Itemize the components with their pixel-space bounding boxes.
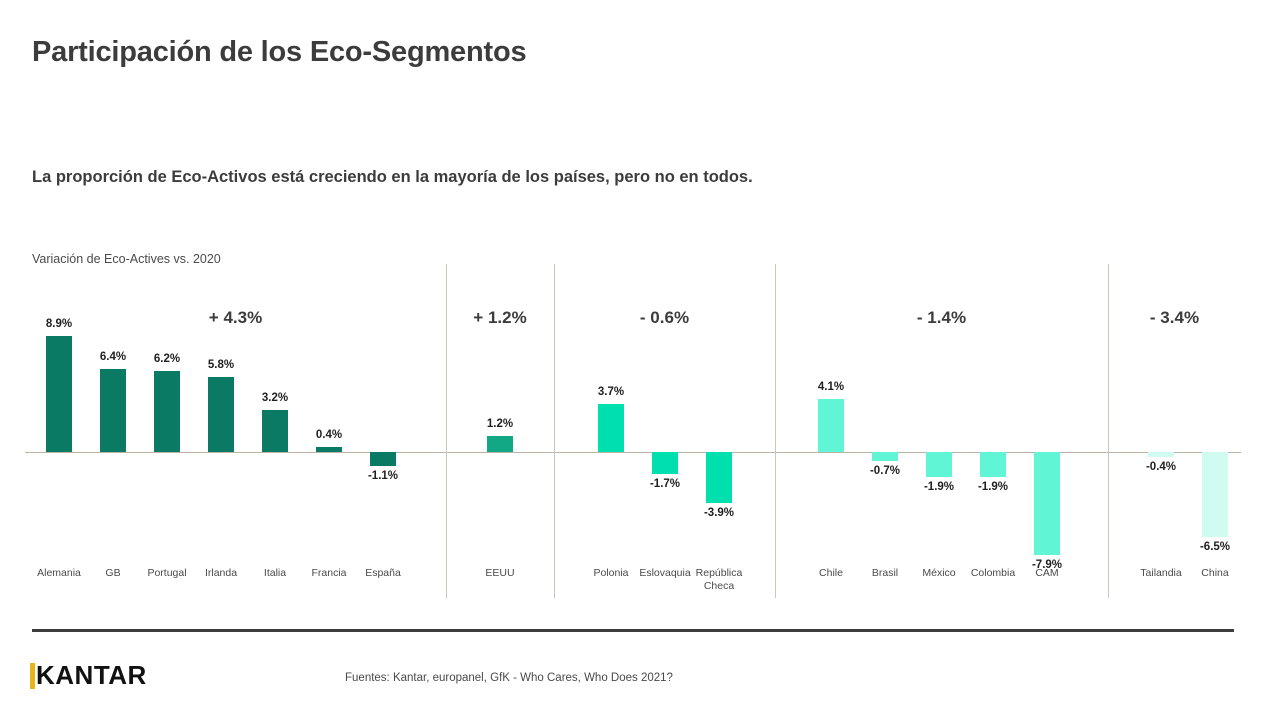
bar-chart: + 4.3%8.9%Alemania6.4%GB6.2%Portugal5.8%… xyxy=(0,264,1266,598)
footer-divider xyxy=(32,629,1234,632)
bar-value-label: 8.9% xyxy=(46,318,72,330)
bar[interactable] xyxy=(370,452,396,466)
subtitle: La proporción de Eco-Activos está crecie… xyxy=(32,168,753,187)
bar[interactable] xyxy=(1148,452,1174,457)
kantar-logo: KANTAR xyxy=(30,660,147,691)
bar-category-label: China xyxy=(1201,567,1228,580)
bar[interactable] xyxy=(100,369,126,452)
bar-value-label: 4.1% xyxy=(818,381,844,393)
page-title: Participación de los Eco-Segmentos xyxy=(32,36,526,69)
bar-category-label: Italia xyxy=(264,567,286,580)
bar[interactable] xyxy=(706,452,732,503)
group-europe: + 4.3%8.9%Alemania6.4%GB6.2%Portugal5.8%… xyxy=(25,264,446,598)
bar-column[interactable]: -6.5%China xyxy=(1188,264,1242,598)
bar-category-label: España xyxy=(365,567,401,580)
bar-value-label: -3.9% xyxy=(704,507,734,519)
bar-column[interactable]: 5.8%Irlanda xyxy=(194,264,248,598)
bar[interactable] xyxy=(926,452,952,477)
bar[interactable] xyxy=(872,452,898,461)
bar-category-label: Alemania xyxy=(37,567,81,580)
bar-column[interactable]: -3.9%RepúblicaCheca xyxy=(692,264,746,598)
bar-value-label: 3.2% xyxy=(262,392,288,404)
bar-value-label: 6.4% xyxy=(100,351,126,363)
bar-category-label: Eslovaquia xyxy=(639,567,690,580)
group-usa: + 1.2%1.2%EEUU xyxy=(446,264,554,598)
bar[interactable] xyxy=(652,452,678,474)
bar-column[interactable]: -1.9%Colombia xyxy=(966,264,1020,598)
bar[interactable] xyxy=(1034,452,1060,555)
bar-value-label: -6.5% xyxy=(1200,541,1230,553)
bar-column[interactable]: 0.4%Francia xyxy=(302,264,356,598)
bar-category-label: CAM xyxy=(1035,567,1058,580)
bar-value-label: 5.8% xyxy=(208,359,234,371)
bar-category-label: Brasil xyxy=(872,567,898,580)
bar-value-label: -1.9% xyxy=(924,481,954,493)
bar[interactable] xyxy=(598,404,624,452)
bar[interactable] xyxy=(980,452,1006,477)
bar-category-label: Tailandia xyxy=(1140,567,1181,580)
bar-category-label: Chile xyxy=(819,567,843,580)
bar-category-label: Portugal xyxy=(147,567,186,580)
bar[interactable] xyxy=(208,377,234,452)
bar-column[interactable]: -1.1%España xyxy=(356,264,410,598)
bar-value-label: 3.7% xyxy=(598,386,624,398)
bar-category-label: RepúblicaCheca xyxy=(696,567,743,593)
bar-category-label: Colombia xyxy=(971,567,1015,580)
group-asia: - 3.4%-0.4%Tailandia-6.5%China xyxy=(1108,264,1241,598)
bar[interactable] xyxy=(818,399,844,452)
bar[interactable] xyxy=(262,410,288,452)
bar[interactable] xyxy=(154,371,180,452)
bar-category-label: Francia xyxy=(311,567,346,580)
logo-accent-bar xyxy=(30,663,35,689)
bar[interactable] xyxy=(1202,452,1228,537)
slide: Participación de los Eco-Segmentos La pr… xyxy=(0,0,1266,711)
bar-column[interactable]: 1.2%EEUU xyxy=(473,264,527,598)
bar-value-label: 6.2% xyxy=(154,353,180,365)
bar-value-label: 1.2% xyxy=(487,418,513,430)
bar-category-label: EEUU xyxy=(485,567,514,580)
bar-value-label: -1.9% xyxy=(978,481,1008,493)
bar-value-label: -1.1% xyxy=(368,470,398,482)
bar-value-label: -0.4% xyxy=(1146,461,1176,473)
bar-column[interactable]: 6.4%GB xyxy=(86,264,140,598)
bar-column[interactable]: 8.9%Alemania xyxy=(32,264,86,598)
bar-column[interactable]: 3.2%Italia xyxy=(248,264,302,598)
bar[interactable] xyxy=(316,447,342,452)
bar-column[interactable]: -1.7%Eslovaquia xyxy=(638,264,692,598)
bar-category-label: México xyxy=(922,567,955,580)
bar-category-label: Polonia xyxy=(593,567,628,580)
bar-category-label: GB xyxy=(105,567,120,580)
group-latam: - 1.4%4.1%Chile-0.7%Brasil-1.9%México-1.… xyxy=(775,264,1108,598)
bar-value-label: -0.7% xyxy=(870,465,900,477)
sources-note: Fuentes: Kantar, europanel, GfK - Who Ca… xyxy=(345,672,673,684)
bar-column[interactable]: -1.9%México xyxy=(912,264,966,598)
logo-text: KANTAR xyxy=(36,660,147,691)
bar-column[interactable]: -0.4%Tailandia xyxy=(1134,264,1188,598)
bar-column[interactable]: 4.1%Chile xyxy=(804,264,858,598)
bar[interactable] xyxy=(487,436,513,452)
bar[interactable] xyxy=(46,336,72,452)
bar-value-label: 0.4% xyxy=(316,429,342,441)
group-eastern-europe: - 0.6%3.7%Polonia-1.7%Eslovaquia-3.9%Rep… xyxy=(554,264,775,598)
bar-category-label: Irlanda xyxy=(205,567,237,580)
bar-column[interactable]: 6.2%Portugal xyxy=(140,264,194,598)
bar-column[interactable]: -0.7%Brasil xyxy=(858,264,912,598)
bar-column[interactable]: 3.7%Polonia xyxy=(584,264,638,598)
bar-value-label: -1.7% xyxy=(650,478,680,490)
bar-column[interactable]: -7.9%CAM xyxy=(1020,264,1074,598)
